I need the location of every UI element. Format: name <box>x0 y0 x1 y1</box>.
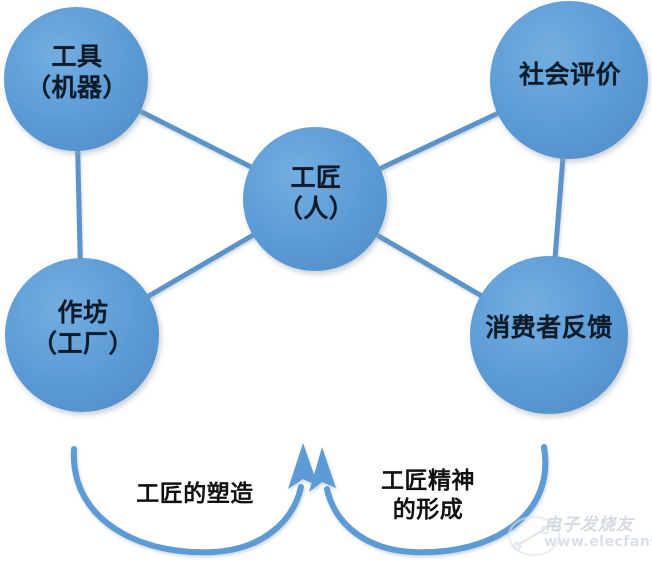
flow-arrow-shaping-curve <box>74 449 301 552</box>
flow-arrow-group <box>74 443 546 552</box>
node-circle-craftsman[interactable] <box>243 127 387 271</box>
node-circle-consumer[interactable] <box>470 256 628 414</box>
watermark-logo-icon <box>509 517 559 555</box>
flow-arrow-spirit-curve <box>327 447 545 552</box>
diagram-canvas: 工具 （机器） 工匠 （人） 社会评价 作坊 （工厂） 消费者反馈 工匠的塑造 … <box>0 0 652 569</box>
node-circle-tools[interactable] <box>4 7 148 151</box>
node-circle-social[interactable] <box>490 1 648 159</box>
node-circle-workshop[interactable] <box>5 258 159 412</box>
node-group <box>4 1 648 414</box>
flow-arrow-spirit-head <box>309 447 336 492</box>
diagram-svg <box>0 0 652 569</box>
